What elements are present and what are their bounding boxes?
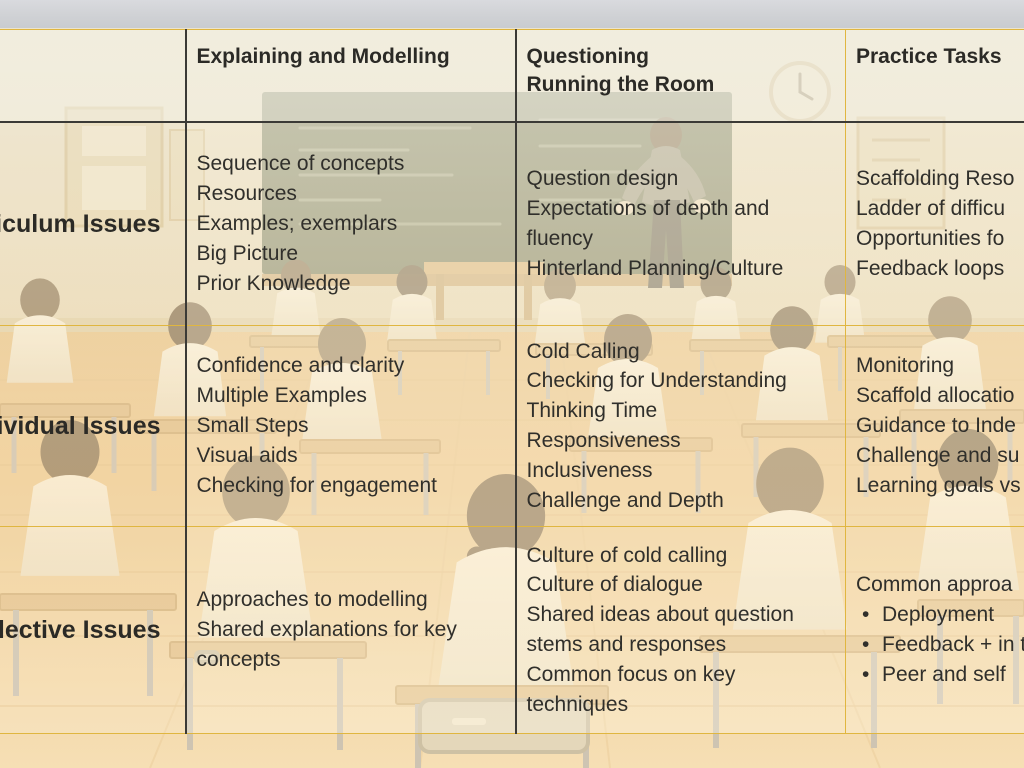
list-item: Ladder of difficu bbox=[856, 194, 1024, 224]
header-practice-tasks: Practice Tasks bbox=[846, 30, 1024, 123]
cell-text-block: Question design Expectations of depth an… bbox=[527, 164, 836, 283]
cell-individual-explaining: Confidence and clarity Multiple Examples… bbox=[186, 326, 516, 527]
row-label-cell-collective: Collective Issues bbox=[0, 527, 186, 734]
cell-text-block: Sequence of concepts Resources Examples;… bbox=[197, 149, 505, 298]
table-row-collective-issues: Collective Issues Approaches to modellin… bbox=[0, 527, 1024, 734]
list-item: Opportunities fo bbox=[856, 224, 1024, 254]
top-grey-band bbox=[0, 0, 1024, 28]
list-item: Small Steps bbox=[197, 411, 505, 441]
list-item: Shared ideas about question stems and re… bbox=[527, 600, 836, 660]
row-label-individual-issues: Individual Issues bbox=[0, 412, 175, 441]
list-item: Question design bbox=[527, 164, 836, 194]
cell-text-block: Monitoring Scaffold allocatio Guidance t… bbox=[856, 351, 1024, 500]
row-label-cell-individual: Individual Issues bbox=[0, 326, 186, 527]
cell-curriculum-questioning: Question design Expectations of depth an… bbox=[516, 122, 846, 326]
table-row-curriculum-issues: Curriculum Issues Sequence of concepts R… bbox=[0, 122, 1024, 326]
cell-text-block: Cold Calling Checking for Understanding … bbox=[527, 337, 836, 516]
header-label-practice: Practice Tasks bbox=[856, 43, 1024, 71]
list-item: Examples; exemplars bbox=[197, 209, 505, 239]
cell-curriculum-explaining: Sequence of concepts Resources Examples;… bbox=[186, 122, 516, 326]
bullet-item: Peer and self bbox=[882, 660, 1024, 690]
cell-collective-explaining: Approaches to modelling Shared explanati… bbox=[186, 527, 516, 734]
list-item: Guidance to Inde bbox=[856, 411, 1024, 441]
cell-text-block: Confidence and clarity Multiple Examples… bbox=[197, 351, 505, 500]
cell-curriculum-practice: Scaffolding Reso Ladder of difficu Oppor… bbox=[846, 122, 1024, 326]
row-label-curriculum-issues: Curriculum Issues bbox=[0, 210, 175, 239]
cell-individual-questioning: Cold Calling Checking for Understanding … bbox=[516, 326, 846, 527]
list-item: Learning goals vs bbox=[856, 471, 1024, 501]
header-corner-cell bbox=[0, 30, 186, 123]
list-item: Culture of cold calling bbox=[527, 541, 836, 571]
cell-text-block: Scaffolding Reso Ladder of difficu Oppor… bbox=[856, 164, 1024, 283]
list-item: Hinterland Planning/Culture bbox=[527, 254, 836, 284]
list-item: Expectations of depth and fluency bbox=[527, 194, 836, 254]
cell-text-block: Common approa Deployment Feedback + in t… bbox=[856, 570, 1024, 689]
list-item: Monitoring bbox=[856, 351, 1024, 381]
list-item: Challenge and su bbox=[856, 441, 1024, 471]
header-label-explaining: Explaining and Modelling bbox=[197, 43, 505, 71]
list-item: Scaffold allocatio bbox=[856, 381, 1024, 411]
list-item: Confidence and clarity bbox=[197, 351, 505, 381]
list-item: Culture of dialogue bbox=[527, 570, 836, 600]
bullet-item: Feedback + in tasks and rou bbox=[882, 630, 1024, 660]
table-row-individual-issues: Individual Issues Confidence and clarity… bbox=[0, 326, 1024, 527]
cell-collective-practice: Common approa Deployment Feedback + in t… bbox=[846, 527, 1024, 734]
cell-individual-practice: Monitoring Scaffold allocatio Guidance t… bbox=[846, 326, 1024, 527]
row-label-cell-curriculum: Curriculum Issues bbox=[0, 122, 186, 326]
list-item: Cold Calling bbox=[527, 337, 836, 367]
header-label-questioning: Questioning bbox=[527, 43, 836, 71]
list-item: Approaches to modelling bbox=[197, 585, 505, 615]
table-header-row: Explaining and Modelling Questioning Run… bbox=[0, 30, 1024, 123]
bullet-list: Deployment Feedback + in tasks and rou P… bbox=[856, 600, 1024, 689]
row-label-collective-issues: Collective Issues bbox=[0, 616, 175, 645]
list-item: Feedback loops bbox=[856, 254, 1024, 284]
cell-collective-questioning: Culture of cold calling Culture of dialo… bbox=[516, 527, 846, 734]
header-questioning-running-the-room: Questioning Running the Room bbox=[516, 30, 846, 123]
list-item: Shared explanations for key concepts bbox=[197, 615, 505, 675]
list-item: Multiple Examples bbox=[197, 381, 505, 411]
list-item: Challenge and Depth bbox=[527, 486, 836, 516]
list-item: Checking for engagement bbox=[197, 471, 505, 501]
slide-canvas: Explaining and Modelling Questioning Run… bbox=[0, 0, 1024, 768]
list-item: Common focus on key techniques bbox=[527, 660, 836, 720]
list-item: Thinking Time bbox=[527, 396, 836, 426]
list-item: Sequence of concepts bbox=[197, 149, 505, 179]
list-item-lead: Common approa bbox=[856, 570, 1024, 600]
cell-text-block: Approaches to modelling Shared explanati… bbox=[197, 585, 505, 674]
issues-matrix-table: Explaining and Modelling Questioning Run… bbox=[0, 29, 1024, 717]
list-item: Inclusiveness bbox=[527, 456, 836, 486]
header-label-running-the-room: Running the Room bbox=[527, 71, 836, 99]
bullet-item: Deployment bbox=[882, 600, 1024, 630]
list-item: Big Picture bbox=[197, 239, 505, 269]
list-item: Checking for Understanding bbox=[527, 366, 836, 396]
list-item: Prior Knowledge bbox=[197, 269, 505, 299]
list-item: Resources bbox=[197, 179, 505, 209]
cell-text-block: Culture of cold calling Culture of dialo… bbox=[527, 541, 836, 720]
list-item: Visual aids bbox=[197, 441, 505, 471]
list-item: Responsiveness bbox=[527, 426, 836, 456]
header-explaining-and-modelling: Explaining and Modelling bbox=[186, 30, 516, 123]
list-item: Scaffolding Reso bbox=[856, 164, 1024, 194]
